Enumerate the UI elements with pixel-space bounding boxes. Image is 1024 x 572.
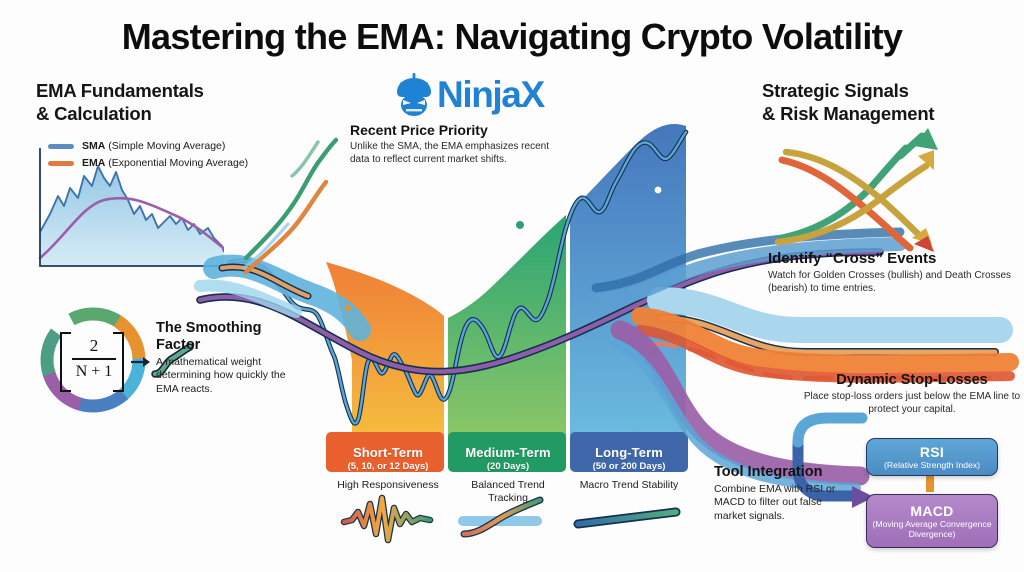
heading-right-line1: Strategic Signals (762, 80, 909, 101)
heading-left-line1: EMA Fundamentals (36, 80, 204, 101)
callout-stop-body: Place stop-loss orders just below the EM… (798, 390, 1024, 416)
infographic-canvas: Mastering the EMA: Navigating Crypto Vol… (0, 0, 1024, 572)
heading-left-line2: & Calculation (36, 103, 152, 124)
legend-item-ema: EMA (Exponential Moving Average) (48, 157, 248, 169)
legend-item-sma: SMA (Simple Moving Average) (48, 140, 248, 152)
ninja-helmet-icon (392, 72, 436, 118)
page-title: Mastering the EMA: Navigating Crypto Vol… (0, 16, 1024, 58)
brand-logo: NinjaX (392, 72, 544, 118)
band-label-medium-term: Medium-Term (20 Days) (452, 445, 564, 472)
band-caption-short: High Responsiveness (322, 479, 454, 492)
indicator-expansion-rsi: (Relative Strength Index) (880, 461, 984, 471)
callout-recent-price: Recent Price Priority Unlike the SMA, th… (350, 122, 560, 166)
callout-recent-title: Recent Price Priority (350, 122, 560, 138)
formula-divider (72, 358, 116, 360)
band-name-long: Long-Term (570, 445, 688, 460)
band-period-short: (5, 10, or 12 Days) (330, 461, 446, 472)
decorative-dot (516, 221, 524, 229)
band-period-medium: (20 Days) (452, 461, 564, 472)
band-caption-long: Macro Trend Stability (570, 479, 688, 492)
callout-tool-body: Combine EMA with RSI or MACD to filter o… (714, 483, 839, 524)
band-icon-volatile (344, 498, 430, 540)
band-caption-medium: Balanced Trend Tracking (452, 479, 564, 505)
indicator-name-macd: MACD (910, 503, 953, 519)
indicator-box-rsi[interactable]: RSI (Relative Strength Index) (866, 438, 998, 476)
callout-stop-title: Dynamic Stop-Losses (798, 372, 1024, 389)
smoothing-factor-formula: 2 N + 1 (56, 330, 128, 392)
formula-numerator: 2 (72, 336, 116, 356)
indicator-box-macd[interactable]: MACD (Moving Average Convergence Diverge… (866, 494, 998, 548)
legend-swatch-ema (48, 161, 74, 166)
legend-label-sma: SMA (Simple Moving Average) (82, 140, 225, 152)
formula-denominator: N + 1 (72, 362, 116, 382)
legend-label-ema: EMA (Exponential Moving Average) (82, 157, 248, 169)
section-heading-right: Strategic Signals & Risk Management (762, 80, 1024, 126)
band-label-long-term: Long-Term (50 or 200 Days) (570, 445, 688, 472)
callout-smoothing-body: A mathematical weight determining how qu… (156, 356, 302, 397)
chart-legend: SMA (Simple Moving Average) EMA (Exponen… (48, 140, 248, 174)
band-icon-flat (578, 512, 676, 524)
legend-expansion-ema: (Exponential Moving Average) (108, 157, 248, 169)
indicator-name-rsi: RSI (920, 444, 944, 460)
callout-smoothing-title: The Smoothing Factor (156, 320, 302, 354)
band-label-short-term: Short-Term (5, 10, or 12 Days) (330, 445, 446, 472)
rising-trend-pair (244, 140, 336, 272)
decorative-dot (345, 305, 351, 311)
indicator-expansion-macd: (Moving Average Convergence Divergence) (867, 520, 997, 539)
band-period-long: (50 or 200 Days) (570, 461, 688, 472)
callout-cross-title: Identify “Cross” Events (768, 250, 1020, 267)
legend-abbr-sma: SMA (82, 140, 105, 152)
band-name-medium: Medium-Term (452, 445, 564, 460)
band-icon-smooth (458, 500, 542, 534)
brand-name: NinjaX (437, 74, 544, 116)
section-heading-left: EMA Fundamentals & Calculation (36, 80, 296, 126)
decorative-dot (655, 187, 662, 194)
callout-recent-body: Unlike the SMA, the EMA emphasizes recen… (350, 140, 560, 166)
callout-stop-losses: Dynamic Stop-Losses Place stop-loss orde… (798, 372, 1024, 416)
heading-right-line2: & Risk Management (762, 103, 934, 124)
callout-tool-title: Tool Integration (714, 464, 839, 481)
callout-cross-events: Identify “Cross” Events Watch for Golden… (768, 250, 1020, 295)
callout-cross-body: Watch for Golden Crosses (bullish) and D… (768, 269, 1020, 295)
bracket-left (60, 332, 71, 392)
callout-smoothing-factor: The Smoothing Factor A mathematical weig… (156, 320, 302, 397)
callout-tool-integration: Tool Integration Combine EMA with RSI or… (714, 464, 839, 524)
legend-expansion-sma: (Simple Moving Average) (108, 140, 225, 152)
band-name-short: Short-Term (330, 445, 446, 460)
legend-swatch-sma (48, 144, 74, 149)
legend-abbr-ema: EMA (82, 157, 105, 169)
